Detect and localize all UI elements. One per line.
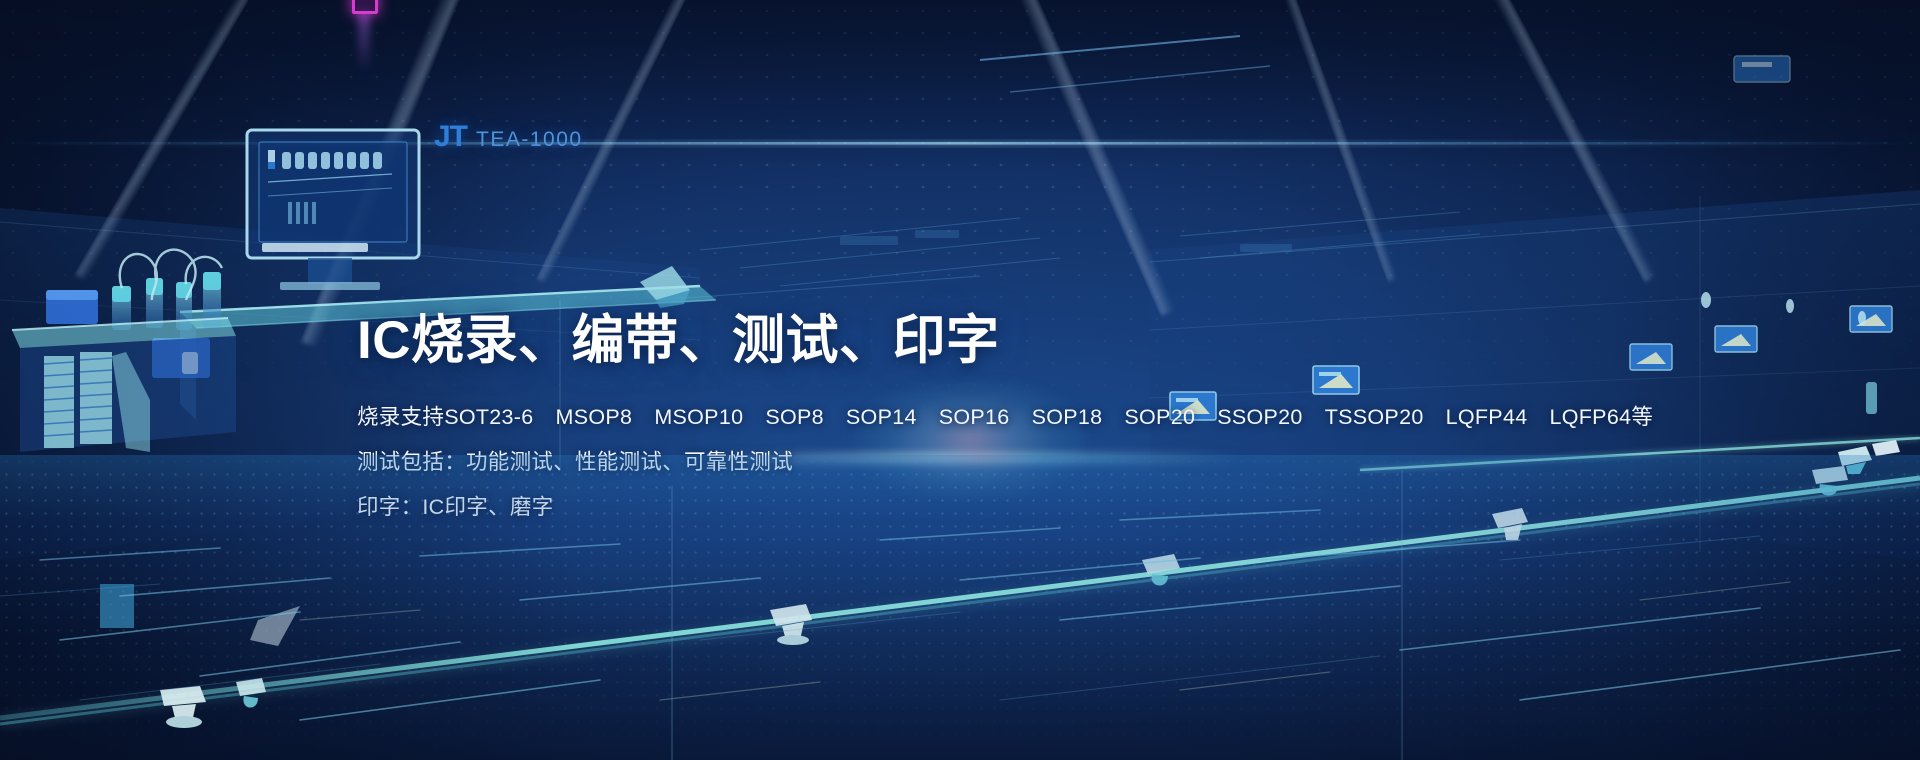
- package-chip: SSOP20: [1217, 403, 1302, 432]
- overhead-gantry: [980, 36, 1790, 92]
- equipment-label: JT TEA-1000: [434, 120, 583, 154]
- floor-grid-dots: [0, 455, 1920, 760]
- package-chip: LQFP44: [1446, 403, 1528, 432]
- package-chip: TSSOP20: [1325, 403, 1424, 432]
- floor-light-wash: [0, 455, 1920, 760]
- ceiling-beam-light: [358, 12, 370, 72]
- package-chip: SOP8: [765, 403, 824, 432]
- package-chip: MSOP10: [654, 403, 743, 432]
- page-title: IC烧录、编带、测试、印字: [357, 312, 1557, 369]
- package-chip: SOP20: [1124, 403, 1195, 432]
- banner-root: JT TEA-1000 IC烧录、编带、测试、印字 烧录支持SOT23-6MSO…: [0, 0, 1920, 760]
- list-item-burn: 烧录支持SOT23-6MSOP8MSOP10SOP8SOP14SOP16SOP1…: [357, 403, 1557, 432]
- package-chip: SOP14: [846, 403, 917, 432]
- package-chip: SOP16: [939, 403, 1010, 432]
- ceiling-marker-icon: [352, 0, 378, 14]
- package-chip: LQFP64等: [1549, 403, 1653, 432]
- package-chip: MSOP8: [556, 403, 633, 432]
- equipment-brand-logo: JT: [434, 120, 467, 154]
- package-chip: SOP18: [1032, 403, 1103, 432]
- equipment-model-text: TEA-1000: [476, 128, 583, 152]
- burn-prefix-text: 烧录支持SOT23-6: [357, 403, 534, 432]
